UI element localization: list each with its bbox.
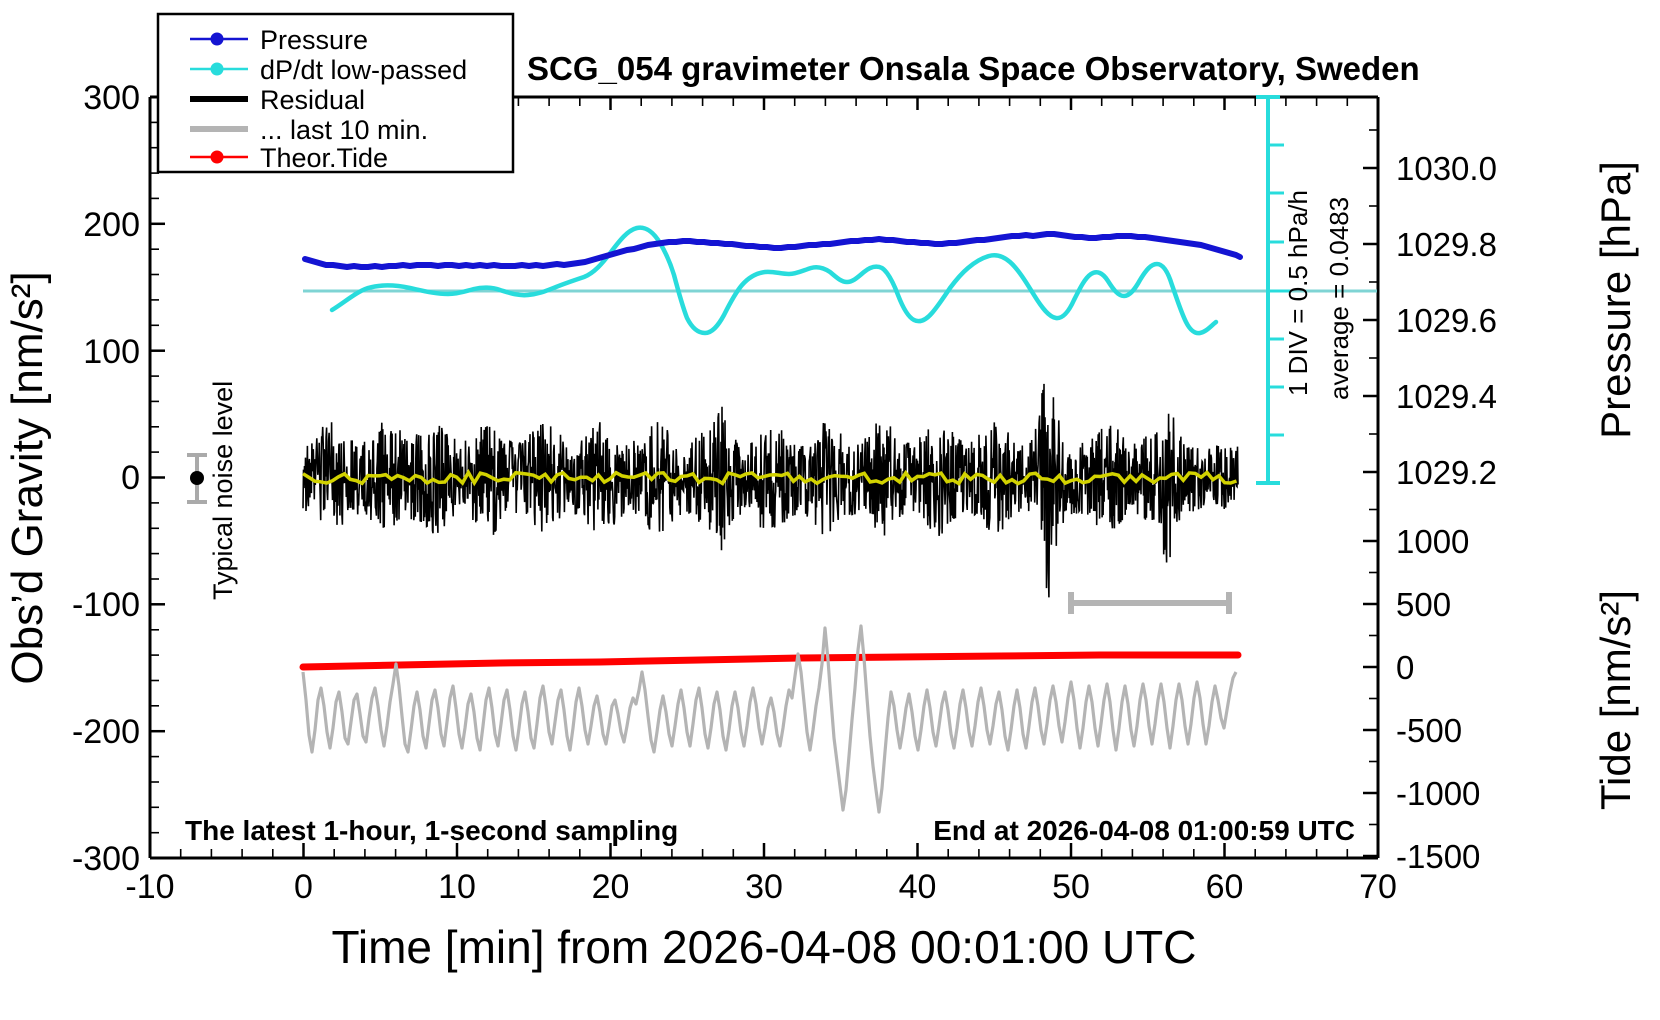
tide-tick-label: 1000	[1396, 523, 1469, 560]
x-tick-label: 60	[1206, 868, 1244, 906]
average-label: average = 0.0483	[1324, 197, 1354, 400]
legend-label: dP/dt low-passed	[260, 55, 467, 85]
y-tick-label-left: -100	[72, 586, 140, 624]
pressure-tick-label: 1029.6	[1396, 302, 1497, 339]
tide-tick-label: -500	[1396, 712, 1462, 749]
x-tick-label: 30	[745, 868, 783, 906]
y-tick-label-left: -300	[72, 840, 140, 878]
x-tick-label: 20	[592, 868, 630, 906]
tide-tick-label: 500	[1396, 586, 1451, 623]
y-axis-label-tide: Tide [nm/s²]	[1592, 590, 1639, 810]
pressure-tick-label: 1030.0	[1396, 150, 1497, 187]
tide-tick-label: -1500	[1396, 838, 1480, 875]
gravimeter-plot: -10 0 10 20 30 40 50 60 70	[0, 0, 1660, 1020]
typical-noise-level-label: Typical noise level	[208, 381, 238, 600]
legend-label: Residual	[260, 85, 365, 115]
legend-dot-icon	[211, 33, 224, 46]
y-tick-label-left: 200	[83, 206, 140, 244]
x-tick-label: 50	[1052, 868, 1090, 906]
page-title: SCG_054 gravimeter Onsala Space Observat…	[527, 50, 1420, 87]
pressure-tick-label: 1029.2	[1396, 454, 1497, 491]
legend: Pressure dP/dt low-passed Residual ... l…	[158, 14, 513, 173]
y-tick-label-left: 300	[83, 79, 140, 117]
x-axis-label: Time [min] from 2026-04-08 00:01:00 UTC	[332, 921, 1197, 973]
pressure-tick-label: 1029.4	[1396, 378, 1497, 415]
y-axis-label-pressure: Pressure [hPa]	[1592, 161, 1639, 439]
chart-canvas: -10 0 10 20 30 40 50 60 70	[0, 0, 1660, 1020]
x-tick-label: 0	[294, 868, 313, 906]
tide-tick-label: 0	[1396, 649, 1414, 686]
sampling-note: The latest 1-hour, 1-second sampling	[185, 815, 678, 846]
legend-label: ... last 10 min.	[260, 115, 428, 145]
legend-label: Pressure	[260, 25, 368, 55]
legend-label: Theor.Tide	[260, 143, 388, 173]
y-tick-label-left: 100	[83, 333, 140, 371]
y-axis-label-left: Obs’d Gravity [nm/s²]	[3, 271, 52, 684]
y-tick-label-left: 0	[121, 459, 140, 497]
div-scale-label: 1 DIV = 0.5 hPa/h	[1283, 190, 1313, 396]
x-tick-label: 10	[438, 868, 476, 906]
legend-dot-icon	[211, 151, 224, 164]
pressure-tick-label: 1029.8	[1396, 226, 1497, 263]
tide-tick-label: -1000	[1396, 775, 1480, 812]
legend-dot-icon	[211, 63, 224, 76]
end-time-note: End at 2026-04-08 01:00:59 UTC	[933, 815, 1355, 846]
y-tick-label-left: -200	[72, 713, 140, 751]
x-tick-label: 70	[1359, 868, 1397, 906]
x-tick-label: 40	[899, 868, 937, 906]
